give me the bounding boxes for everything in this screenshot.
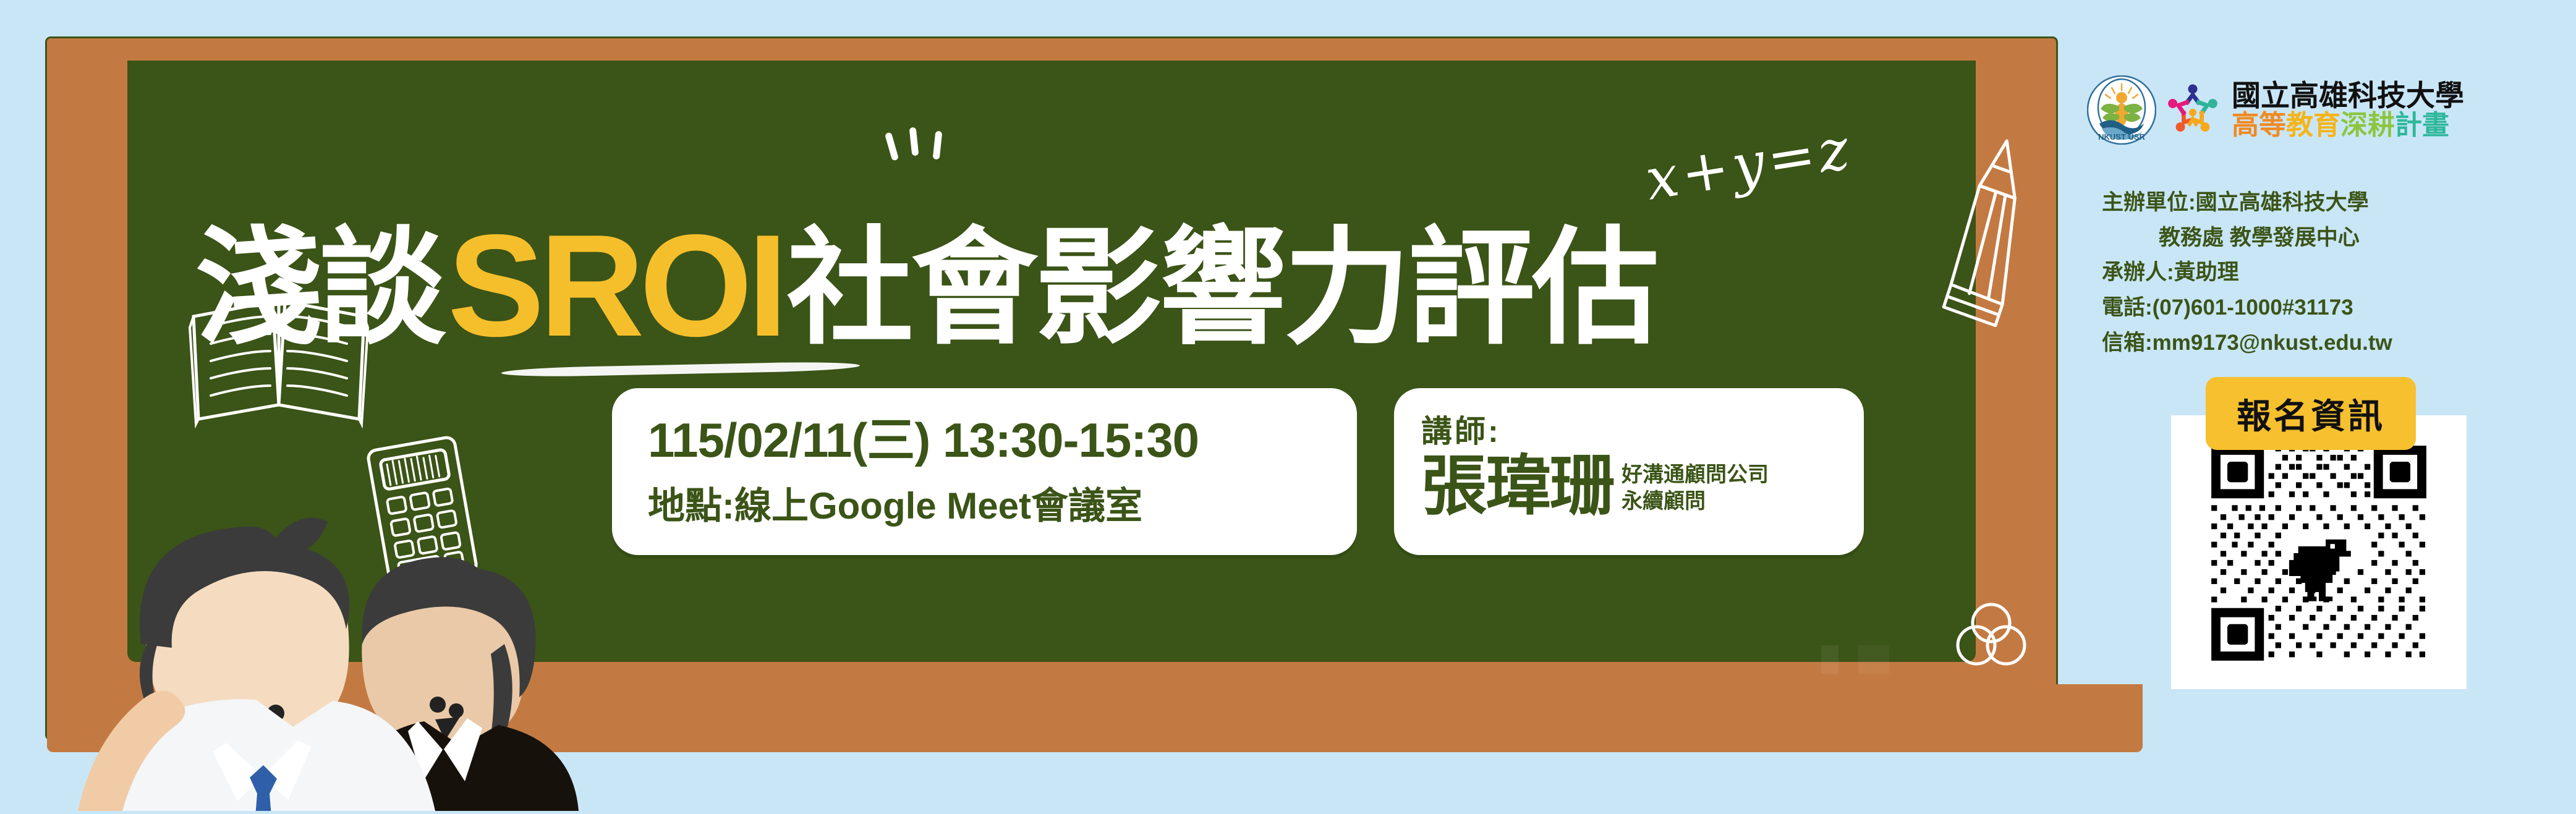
speaker-name: 張瑋珊 bbox=[1421, 454, 1614, 519]
speaker-card: 講師: 張瑋珊 好溝通顧問公司 永續顧問 bbox=[1394, 388, 1864, 555]
program-char-1: 等 bbox=[2259, 110, 2286, 140]
svg-text:NKUST USR: NKUST USR bbox=[2098, 132, 2145, 142]
event-location: 地點:線上Google Meet會議室 bbox=[648, 476, 1357, 530]
organizer-line: 主辦單位:國立高雄科技大學 bbox=[2102, 185, 2553, 221]
program-char-7: 畫 bbox=[2422, 110, 2449, 140]
university-name: 國立高雄科技大學 bbox=[2232, 80, 2464, 111]
chalk-tick-marks-icon bbox=[885, 125, 953, 168]
program-char-6: 計 bbox=[2395, 110, 2422, 140]
event-datetime: 115/02/11(三) 13:30-15:30 bbox=[648, 414, 1357, 467]
program-logo-text: 國立高雄科技大學 高等教育深耕計畫 bbox=[2232, 80, 2464, 140]
organizer-line: 承辦人:黃助理 bbox=[2102, 255, 2553, 290]
sidebar: NKUST USR bbox=[2065, 0, 2576, 773]
program-name: 高等教育深耕計畫 bbox=[2232, 111, 2464, 140]
registration-qr-code[interactable] bbox=[2193, 439, 2444, 668]
venn-diagram-icon bbox=[1948, 601, 2034, 669]
program-char-3: 育 bbox=[2313, 110, 2340, 140]
speaker-label: 講師: bbox=[1421, 407, 1864, 451]
program-char-2: 教 bbox=[2286, 110, 2313, 140]
program-char-0: 高 bbox=[2232, 110, 2259, 140]
page-title: 淺談 SROI 社會影響力評估 bbox=[195, 211, 1988, 366]
title-part-3: 社會影響力評估 bbox=[787, 226, 1657, 352]
nkust-usr-seal-logo: NKUST USR bbox=[2087, 75, 2156, 145]
program-char-5: 耕 bbox=[2368, 110, 2395, 140]
speaker-affiliation-line-2: 永續顧問 bbox=[1622, 488, 1769, 515]
speaker-affiliation-line-1: 好溝通顧問公司 bbox=[1622, 462, 1769, 488]
organizer-line: 教務處 教學發展中心 bbox=[2102, 221, 2553, 256]
students-illustration bbox=[72, 459, 579, 811]
higher-education-program-mark bbox=[2160, 77, 2225, 143]
registration-badge: 報名資訊 bbox=[2206, 377, 2416, 450]
organizer-line: 信箱:mm9173@nkust.edu.tw bbox=[2102, 326, 2553, 361]
event-when-card: 115/02/11(三) 13:30-15:30 地點:線上Google Mee… bbox=[612, 388, 1357, 555]
organizer-info: 主辦單位:國立高雄科技大學 教務處 教學發展中心 承辦人:黃助理 電話:(07)… bbox=[2102, 185, 2553, 360]
registration-badge-label: 報名資訊 bbox=[2237, 389, 2385, 439]
registration-qr-block[interactable]: 報名資訊 bbox=[2171, 377, 2467, 689]
organizer-line: 電話:(07)601-1000#31173 bbox=[2102, 290, 2553, 326]
title-part-1: 淺談 bbox=[195, 226, 444, 352]
title-part-2: SROI bbox=[448, 213, 783, 358]
logo-row: NKUST USR bbox=[2087, 73, 2557, 147]
speaker-row: 張瑋珊 好溝通顧問公司 永續顧問 bbox=[1421, 454, 1864, 519]
program-char-4: 深 bbox=[2340, 110, 2368, 140]
speaker-affiliation: 好溝通顧問公司 永續顧問 bbox=[1622, 462, 1769, 519]
